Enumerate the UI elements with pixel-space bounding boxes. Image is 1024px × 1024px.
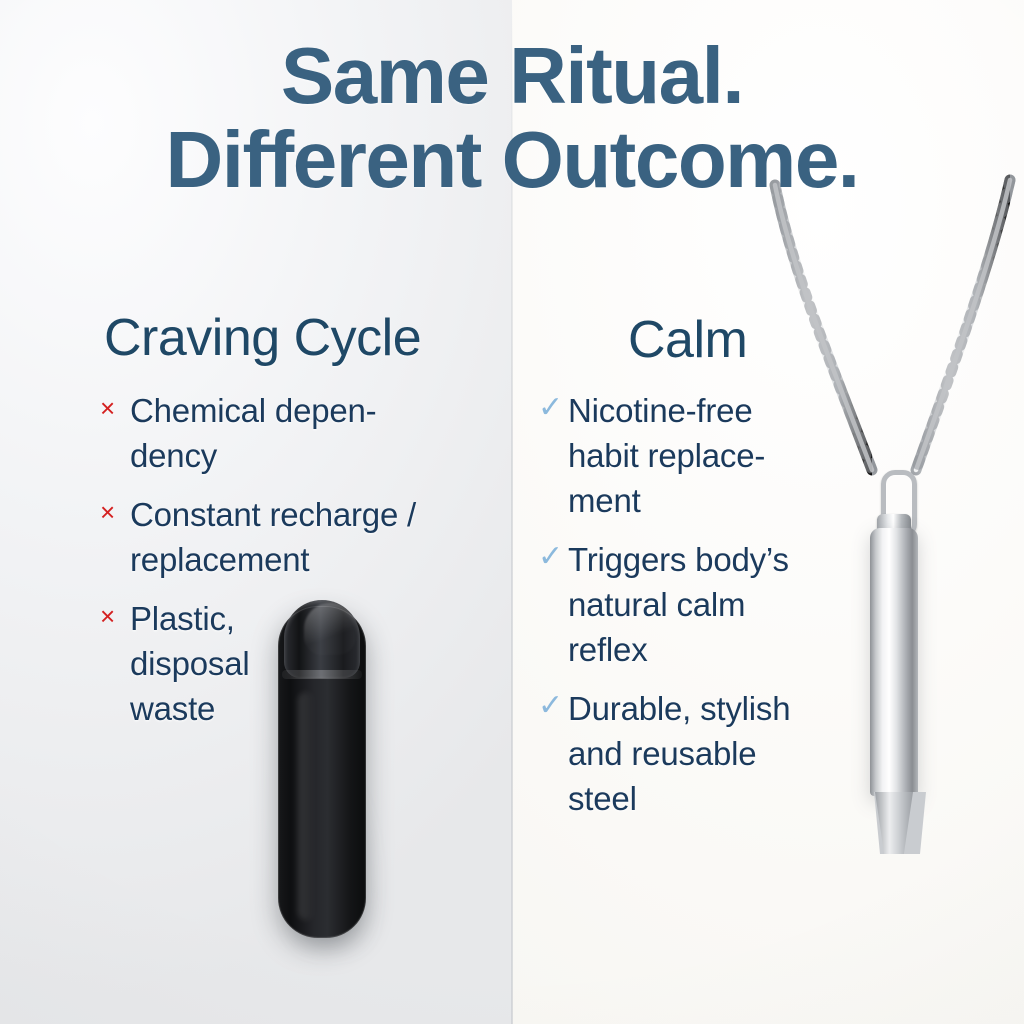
cross-icon: × — [100, 596, 130, 636]
list-item-label: Nicotine-freehabit replace-ment — [568, 388, 765, 523]
right-column-heading: Calm — [628, 312, 747, 368]
left-feature-list: × Chemical depen-dency × Constant rechar… — [100, 388, 500, 745]
left-column-heading: Craving Cycle — [104, 310, 421, 366]
list-item: × Plastic,disposalwaste — [100, 596, 500, 731]
list-item: ✓ Triggers body’snatural calmreflex — [538, 537, 908, 672]
list-item: ✓ Durable, stylishand reusablesteel — [538, 686, 908, 821]
list-item-label: Chemical depen-dency — [130, 388, 376, 478]
cross-icon: × — [100, 388, 130, 428]
headline-line-2: Different Outcome. — [0, 118, 1024, 202]
list-item: × Chemical depen-dency — [100, 388, 500, 478]
check-icon: ✓ — [538, 388, 568, 428]
list-item-label: Plastic,disposalwaste — [130, 596, 249, 731]
check-icon: ✓ — [538, 537, 568, 577]
comparison-graphic: Same Ritual. Different Outcome. Craving … — [0, 0, 1024, 1024]
right-feature-list: ✓ Nicotine-freehabit replace-ment ✓ Trig… — [538, 388, 908, 835]
list-item: × Constant recharge /replacement — [100, 492, 500, 582]
headline: Same Ritual. Different Outcome. — [0, 34, 1024, 202]
list-item-label: Constant recharge /replacement — [130, 492, 416, 582]
list-item: ✓ Nicotine-freehabit replace-ment — [538, 388, 908, 523]
headline-line-1: Same Ritual. — [0, 34, 1024, 118]
list-item-label: Durable, stylishand reusablesteel — [568, 686, 790, 821]
list-item-label: Triggers body’snatural calmreflex — [568, 537, 789, 672]
cross-icon: × — [100, 492, 130, 532]
check-icon: ✓ — [538, 686, 568, 726]
